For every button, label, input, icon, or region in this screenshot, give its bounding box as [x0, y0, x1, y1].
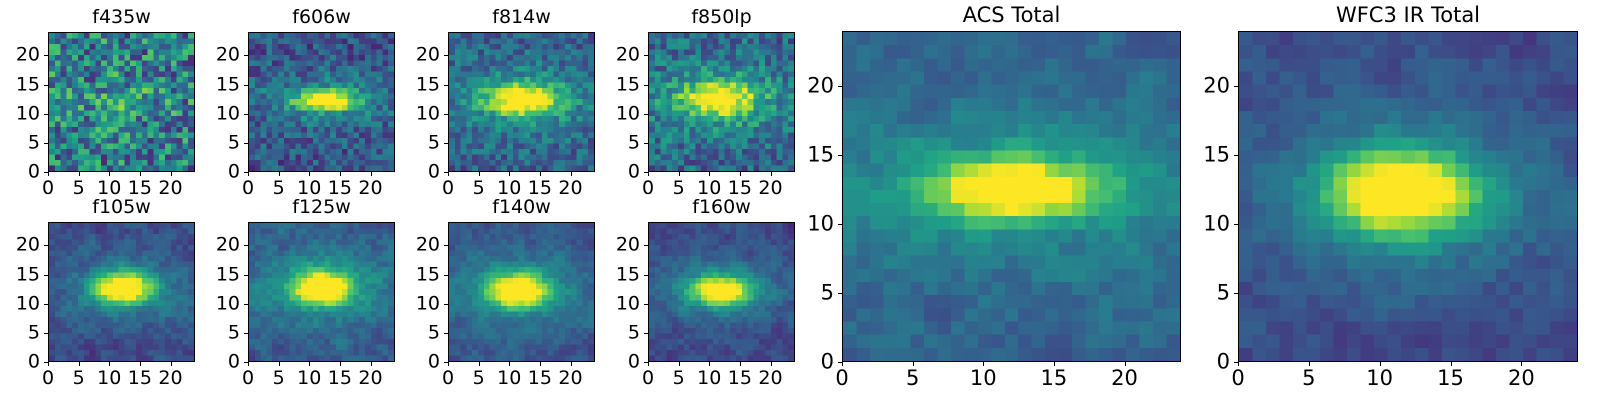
xtick-f850lp-3 [740, 172, 741, 176]
panel-title-f850lp: f850lp [648, 8, 795, 27]
xtick-f606w-2 [309, 172, 310, 176]
ytick-f105w-0 [44, 362, 48, 363]
yticklabel-f814w-4: 20 [404, 46, 440, 65]
xticklabel-f160w-3: 15 [728, 369, 752, 388]
ytick-f140w-2 [444, 304, 448, 305]
ytick-f814w-4 [444, 55, 448, 56]
ytick-f125w-0 [244, 362, 248, 363]
yticklabel-f140w-1: 5 [404, 323, 440, 342]
panel-title-f814w: f814w [448, 8, 595, 27]
yticklabel-acs_total-2: 10 [794, 215, 834, 234]
xtick-f814w-1 [479, 172, 480, 176]
heatmap-canvas-f160w [649, 223, 794, 361]
xtick-f105w-0 [48, 362, 49, 366]
xtick-f814w-0 [448, 172, 449, 176]
xtick-f814w-4 [571, 172, 572, 176]
xticklabel-f105w-4: 20 [158, 369, 182, 388]
xticklabel-f125w-0: 0 [242, 369, 254, 388]
panel-title-wfc3_ir_total: WFC3 IR Total [1238, 6, 1578, 25]
xticklabel-f814w-4: 20 [558, 179, 582, 198]
panel-title-f105w: f105w [48, 198, 195, 217]
ytick-f140w-1 [444, 333, 448, 334]
yticklabel-f850lp-1: 5 [604, 133, 640, 152]
xticklabel-f814w-0: 0 [442, 179, 454, 198]
ytick-f814w-2 [444, 114, 448, 115]
yticklabel-f435w-2: 10 [4, 104, 40, 123]
xticklabel-f140w-1: 5 [473, 369, 485, 388]
heatmap-image-acs_total [842, 31, 1181, 362]
ytick-f435w-4 [44, 55, 48, 56]
xticklabel-wfc3_ir_total-4: 20 [1508, 369, 1535, 388]
xticklabel-f606w-1: 5 [273, 179, 285, 198]
panel-title-f160w: f160w [648, 198, 795, 217]
yticklabel-acs_total-4: 20 [794, 77, 834, 96]
yticklabel-f140w-2: 10 [404, 294, 440, 313]
yticklabel-wfc3_ir_total-4: 20 [1190, 77, 1230, 96]
xtick-f140w-1 [479, 362, 480, 366]
xtick-f850lp-2 [709, 172, 710, 176]
yticklabel-f606w-0: 0 [204, 163, 240, 182]
ytick-f435w-3 [44, 85, 48, 86]
xtick-f125w-4 [371, 362, 372, 366]
yticklabel-f850lp-0: 0 [604, 163, 640, 182]
xtick-f160w-4 [771, 362, 772, 366]
xticklabel-f125w-1: 5 [273, 369, 285, 388]
yticklabel-f606w-3: 15 [204, 75, 240, 94]
yticklabel-f606w-1: 5 [204, 133, 240, 152]
yticklabel-f105w-1: 5 [4, 323, 40, 342]
xticklabel-f435w-4: 20 [158, 179, 182, 198]
xticklabel-f850lp-0: 0 [642, 179, 654, 198]
ytick-f606w-3 [244, 85, 248, 86]
xticklabel-f140w-2: 10 [497, 369, 521, 388]
xticklabel-wfc3_ir_total-3: 15 [1437, 369, 1464, 388]
yticklabel-wfc3_ir_total-2: 10 [1190, 215, 1230, 234]
yticklabel-f105w-2: 10 [4, 294, 40, 313]
xtick-f850lp-1 [679, 172, 680, 176]
xtick-f606w-4 [371, 172, 372, 176]
xticklabel-f160w-1: 5 [673, 369, 685, 388]
xtick-f125w-3 [340, 362, 341, 366]
ytick-f606w-2 [244, 114, 248, 115]
yticklabel-f850lp-2: 10 [604, 104, 640, 123]
xticklabel-f140w-0: 0 [442, 369, 454, 388]
ytick-f850lp-4 [644, 55, 648, 56]
xtick-f850lp-4 [771, 172, 772, 176]
yticklabel-wfc3_ir_total-0: 0 [1190, 353, 1230, 372]
yticklabel-f160w-2: 10 [604, 294, 640, 313]
yticklabel-f125w-4: 20 [204, 236, 240, 255]
ytick-f606w-4 [244, 55, 248, 56]
xticklabel-wfc3_ir_total-0: 0 [1231, 369, 1244, 388]
xticklabel-f160w-2: 10 [697, 369, 721, 388]
ytick-f105w-4 [44, 245, 48, 246]
ytick-acs_total-0 [838, 362, 842, 363]
xtick-f435w-2 [109, 172, 110, 176]
panel-f160w: f160w0510152005101520 [648, 222, 795, 362]
xticklabel-f160w-0: 0 [642, 369, 654, 388]
ytick-f850lp-2 [644, 114, 648, 115]
xticklabel-f160w-4: 20 [758, 369, 782, 388]
ytick-f435w-0 [44, 172, 48, 173]
ytick-acs_total-2 [838, 224, 842, 225]
yticklabel-f125w-1: 5 [204, 323, 240, 342]
xtick-f140w-0 [448, 362, 449, 366]
ytick-f160w-2 [644, 304, 648, 305]
panel-title-f125w: f125w [248, 198, 395, 217]
panel-wfc3_ir_total: WFC3 IR Total0510152005101520 [1238, 31, 1578, 362]
yticklabel-f160w-3: 15 [604, 265, 640, 284]
ytick-wfc3_ir_total-0 [1234, 362, 1238, 363]
yticklabel-f105w-3: 15 [4, 265, 40, 284]
heatmap-canvas-f850lp [649, 33, 794, 171]
xticklabel-f850lp-1: 5 [673, 179, 685, 198]
ytick-wfc3_ir_total-4 [1234, 86, 1238, 87]
xticklabel-f606w-4: 20 [358, 179, 382, 198]
yticklabel-acs_total-3: 15 [794, 146, 834, 165]
ytick-f606w-0 [244, 172, 248, 173]
heatmap-image-f850lp [648, 32, 795, 172]
xtick-f606w-1 [279, 172, 280, 176]
yticklabel-acs_total-0: 0 [794, 353, 834, 372]
xtick-f125w-1 [279, 362, 280, 366]
ytick-f814w-1 [444, 143, 448, 144]
yticklabel-f435w-1: 5 [4, 133, 40, 152]
ytick-f160w-4 [644, 245, 648, 246]
panel-title-acs_total: ACS Total [842, 6, 1181, 25]
xticklabel-f814w-1: 5 [473, 179, 485, 198]
ytick-f435w-2 [44, 114, 48, 115]
xticklabel-f105w-2: 10 [97, 369, 121, 388]
xtick-f435w-3 [140, 172, 141, 176]
yticklabel-f160w-1: 5 [604, 323, 640, 342]
xtick-f435w-1 [79, 172, 80, 176]
yticklabel-f125w-3: 15 [204, 265, 240, 284]
yticklabel-wfc3_ir_total-1: 5 [1190, 284, 1230, 303]
panel-f850lp: f850lp0510152005101520 [648, 32, 795, 172]
ytick-acs_total-3 [838, 155, 842, 156]
panel-title-f140w: f140w [448, 198, 595, 217]
ytick-f125w-2 [244, 304, 248, 305]
xticklabel-f850lp-4: 20 [758, 179, 782, 198]
xticklabel-acs_total-3: 15 [1041, 369, 1068, 388]
panel-f140w: f140w0510152005101520 [448, 222, 595, 362]
xtick-f160w-1 [679, 362, 680, 366]
xtick-f125w-0 [248, 362, 249, 366]
ytick-f140w-4 [444, 245, 448, 246]
ytick-f125w-4 [244, 245, 248, 246]
xtick-f140w-3 [540, 362, 541, 366]
yticklabel-f850lp-3: 15 [604, 75, 640, 94]
ytick-wfc3_ir_total-1 [1234, 293, 1238, 294]
ytick-f140w-3 [444, 275, 448, 276]
panel-f814w: f814w0510152005101520 [448, 32, 595, 172]
panel-f435w: f435w0510152005101520 [48, 32, 195, 172]
ytick-f160w-0 [644, 362, 648, 363]
ytick-f125w-1 [244, 333, 248, 334]
xticklabel-f140w-4: 20 [558, 369, 582, 388]
xtick-f105w-2 [109, 362, 110, 366]
ytick-wfc3_ir_total-2 [1234, 224, 1238, 225]
xticklabel-wfc3_ir_total-1: 5 [1302, 369, 1315, 388]
xticklabel-f125w-3: 15 [328, 369, 352, 388]
ytick-f814w-0 [444, 172, 448, 173]
panel-f125w: f125w0510152005101520 [248, 222, 395, 362]
xticklabel-acs_total-0: 0 [835, 369, 848, 388]
ytick-f140w-0 [444, 362, 448, 363]
yticklabel-f105w-0: 0 [4, 353, 40, 372]
xticklabel-f606w-0: 0 [242, 179, 254, 198]
heatmap-image-f140w [448, 222, 595, 362]
heatmap-image-f606w [248, 32, 395, 172]
panel-title-f606w: f606w [248, 8, 395, 27]
yticklabel-f435w-4: 20 [4, 46, 40, 65]
ytick-f850lp-1 [644, 143, 648, 144]
xticklabel-acs_total-2: 10 [970, 369, 997, 388]
xtick-f105w-1 [79, 362, 80, 366]
heatmap-image-f160w [648, 222, 795, 362]
panel-acs_total: ACS Total0510152005101520 [842, 31, 1181, 362]
xtick-f814w-3 [540, 172, 541, 176]
heatmap-canvas-f606w [249, 33, 394, 171]
xtick-f814w-2 [509, 172, 510, 176]
xticklabel-f125w-2: 10 [297, 369, 321, 388]
yticklabel-f160w-4: 20 [604, 236, 640, 255]
xtick-f140w-2 [509, 362, 510, 366]
yticklabel-acs_total-1: 5 [794, 284, 834, 303]
xtick-f435w-4 [171, 172, 172, 176]
yticklabel-f814w-0: 0 [404, 163, 440, 182]
xtick-f140w-4 [571, 362, 572, 366]
ytick-f850lp-3 [644, 85, 648, 86]
yticklabel-wfc3_ir_total-3: 15 [1190, 146, 1230, 165]
xtick-f606w-3 [340, 172, 341, 176]
heatmap-image-f125w [248, 222, 395, 362]
heatmap-canvas-f140w [449, 223, 594, 361]
ytick-acs_total-4 [838, 86, 842, 87]
xticklabel-acs_total-1: 5 [906, 369, 919, 388]
ytick-f606w-1 [244, 143, 248, 144]
yticklabel-f105w-4: 20 [4, 236, 40, 255]
panel-title-f435w: f435w [48, 8, 195, 27]
xtick-f160w-0 [648, 362, 649, 366]
heatmap-image-f814w [448, 32, 595, 172]
heatmap-canvas-f435w [49, 33, 194, 171]
xtick-f160w-2 [709, 362, 710, 366]
heatmap-canvas-f125w [249, 223, 394, 361]
xticklabel-f435w-0: 0 [42, 179, 54, 198]
heatmap-image-wfc3_ir_total [1238, 31, 1578, 362]
panel-f606w: f606w0510152005101520 [248, 32, 395, 172]
yticklabel-f140w-4: 20 [404, 236, 440, 255]
ytick-f814w-3 [444, 85, 448, 86]
xtick-f850lp-0 [648, 172, 649, 176]
yticklabel-f160w-0: 0 [604, 353, 640, 372]
yticklabel-f140w-3: 15 [404, 265, 440, 284]
ytick-f850lp-0 [644, 172, 648, 173]
yticklabel-f125w-2: 10 [204, 294, 240, 313]
xtick-f160w-3 [740, 362, 741, 366]
ytick-f105w-3 [44, 275, 48, 276]
xtick-f606w-0 [248, 172, 249, 176]
heatmap-canvas-f814w [449, 33, 594, 171]
xtick-f105w-4 [171, 362, 172, 366]
xtick-f125w-2 [309, 362, 310, 366]
yticklabel-f814w-3: 15 [404, 75, 440, 94]
xtick-f435w-0 [48, 172, 49, 176]
xticklabel-f125w-4: 20 [358, 369, 382, 388]
xticklabel-f105w-3: 15 [128, 369, 152, 388]
yticklabel-f814w-1: 5 [404, 133, 440, 152]
xticklabel-acs_total-4: 20 [1111, 369, 1138, 388]
ytick-acs_total-1 [838, 293, 842, 294]
ytick-f160w-3 [644, 275, 648, 276]
yticklabel-f850lp-4: 20 [604, 46, 640, 65]
yticklabel-f606w-2: 10 [204, 104, 240, 123]
heatmap-canvas-wfc3_ir_total [1239, 32, 1577, 361]
ytick-wfc3_ir_total-3 [1234, 155, 1238, 156]
panel-f105w: f105w0510152005101520 [48, 222, 195, 362]
heatmap-canvas-f105w [49, 223, 194, 361]
yticklabel-f140w-0: 0 [404, 353, 440, 372]
heatmap-image-f435w [48, 32, 195, 172]
figure-canvas: f435w0510152005101520f606w05101520051015… [0, 0, 1600, 400]
yticklabel-f435w-3: 15 [4, 75, 40, 94]
ytick-f435w-1 [44, 143, 48, 144]
ytick-f160w-1 [644, 333, 648, 334]
yticklabel-f606w-4: 20 [204, 46, 240, 65]
xticklabel-f435w-1: 5 [73, 179, 85, 198]
ytick-f105w-2 [44, 304, 48, 305]
ytick-f105w-1 [44, 333, 48, 334]
ytick-f125w-3 [244, 275, 248, 276]
xticklabel-wfc3_ir_total-2: 10 [1366, 369, 1393, 388]
xticklabel-f105w-1: 5 [73, 369, 85, 388]
heatmap-image-f105w [48, 222, 195, 362]
yticklabel-f814w-2: 10 [404, 104, 440, 123]
xticklabel-f140w-3: 15 [528, 369, 552, 388]
yticklabel-f125w-0: 0 [204, 353, 240, 372]
yticklabel-f435w-0: 0 [4, 163, 40, 182]
heatmap-canvas-acs_total [843, 32, 1180, 361]
xticklabel-f105w-0: 0 [42, 369, 54, 388]
xtick-f105w-3 [140, 362, 141, 366]
